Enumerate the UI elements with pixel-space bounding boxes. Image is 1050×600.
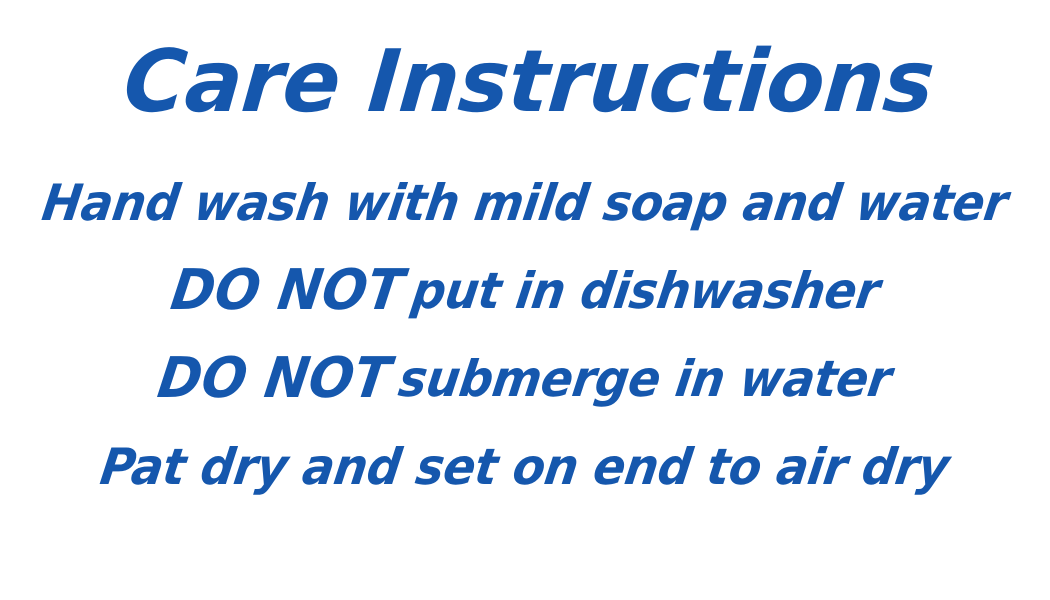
instruction-line: Hand wash with mild soap and water xyxy=(39,176,1011,230)
page-title: Care Instructions xyxy=(120,34,937,130)
instructions-list: Hand wash with mild soap and water DO NO… xyxy=(12,176,1038,494)
care-instructions-card: Care Instructions Hand wash with mild so… xyxy=(0,0,1050,600)
instruction-emphasis: DO NOT xyxy=(167,263,416,319)
instruction-text: put in dishwasher xyxy=(409,266,883,316)
instruction-text: submerge in water xyxy=(396,354,895,404)
instruction-line: DO NOTput in dishwasher xyxy=(167,264,882,318)
instruction-emphasis: DO NOT xyxy=(155,351,404,407)
instruction-line: Pat dry and set on end to air dry xyxy=(97,440,952,494)
instruction-line: DO NOTsubmerge in water xyxy=(155,352,895,406)
instruction-text: Pat dry and set on end to air dry xyxy=(98,442,953,492)
instruction-text: Hand wash with mild soap and water xyxy=(39,178,1010,228)
